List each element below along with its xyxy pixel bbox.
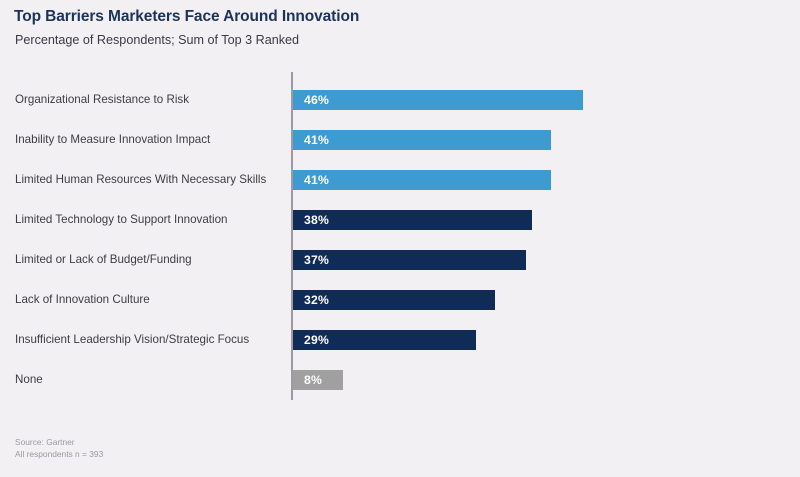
chart-slide: Top Barriers Marketers Face Around Innov… [0, 0, 800, 477]
bar-value-label: 41% [304, 130, 329, 150]
category-label: Organizational Resistance to Risk [15, 90, 189, 110]
bar: 37% [293, 250, 526, 270]
source-text: Source: Gartner [15, 437, 103, 449]
bar-value-label: 37% [304, 250, 329, 270]
bar-value-label: 32% [304, 290, 329, 310]
bar-value-label: 38% [304, 210, 329, 230]
value-axis-line [291, 72, 293, 400]
bar: 41% [293, 170, 551, 190]
bar-row: Insufficient Leadership Vision/Strategic… [0, 330, 800, 350]
bar-row: Lack of Innovation Culture32% [0, 290, 800, 310]
bar-value-label: 29% [304, 330, 329, 350]
bar: 46% [293, 90, 583, 110]
respondents-text: All respondents n = 393 [15, 449, 103, 461]
bar: 29% [293, 330, 476, 350]
bar-value-label: 41% [304, 170, 329, 190]
category-label: Lack of Innovation Culture [15, 290, 150, 310]
category-label: Limited Human Resources With Necessary S… [15, 170, 266, 190]
category-label: Insufficient Leadership Vision/Strategic… [15, 330, 249, 350]
bar-row: None8% [0, 370, 800, 390]
bar-row: Limited Human Resources With Necessary S… [0, 170, 800, 190]
category-label: None [15, 370, 43, 390]
bar: 8% [293, 370, 343, 390]
bar-chart-plot: Organizational Resistance to Risk46%Inab… [0, 0, 800, 477]
bar-value-label: 46% [304, 90, 329, 110]
bar-row: Limited Technology to Support Innovation… [0, 210, 800, 230]
bar-value-label: 8% [304, 370, 322, 390]
category-label: Limited or Lack of Budget/Funding [15, 250, 192, 270]
category-label: Inability to Measure Innovation Impact [15, 130, 210, 150]
bar: 41% [293, 130, 551, 150]
source-note: Source: Gartner All respondents n = 393 [15, 437, 103, 460]
bar-row: Limited or Lack of Budget/Funding37% [0, 250, 800, 270]
bar: 32% [293, 290, 495, 310]
bar: 38% [293, 210, 532, 230]
category-label: Limited Technology to Support Innovation [15, 210, 227, 230]
bar-row: Organizational Resistance to Risk46% [0, 90, 800, 110]
bar-row: Inability to Measure Innovation Impact41… [0, 130, 800, 150]
